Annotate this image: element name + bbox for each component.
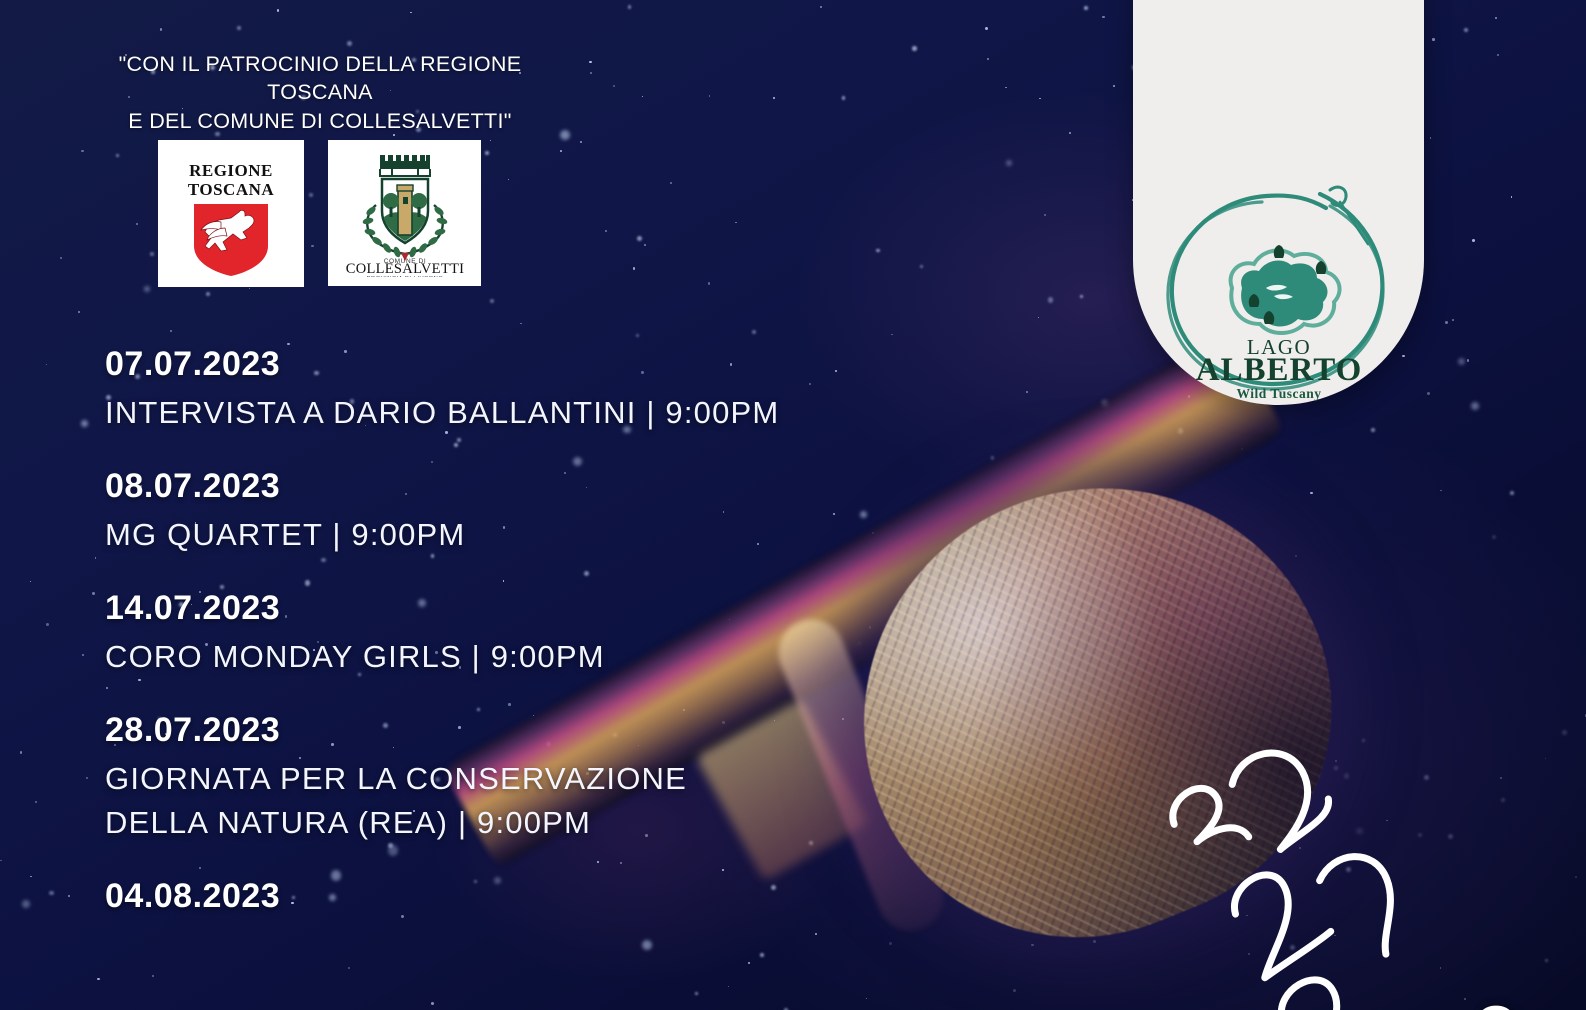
institutional-logos: REGIONE TOSCANA [158, 140, 481, 287]
event-poster: LAGO ALBERTO Wild Tuscany "CON IL PATROC… [0, 0, 1586, 1010]
brand-logo-panel: LAGO ALBERTO Wild Tuscany [1133, 0, 1424, 405]
tower [398, 189, 412, 235]
event-item: 28.07.2023 GIORNATA PER LA CONSERVAZIONE… [105, 711, 905, 845]
event-item: 04.08.2023 [105, 877, 905, 915]
toscana-line-2: TOSCANA [188, 180, 275, 199]
event-date: 08.07.2023 [105, 467, 905, 505]
event-item: 07.07.2023 INTERVISTA A DARIO BALLANTINI… [105, 345, 905, 435]
vertical-brand-text: LAGO ALBERTO [1467, 1000, 1528, 1010]
tree-right [411, 193, 427, 209]
tree-left [383, 193, 399, 209]
toscana-shield [194, 204, 268, 276]
event-description: GIORNATA PER LA CONSERVAZIONE DELLA NATU… [105, 757, 905, 845]
lago-alberto-logo: LAGO ALBERTO Wild Tuscany [1154, 172, 1404, 402]
patronage-line-2: E DEL COMUNE DI COLLESALVETTI" [80, 107, 560, 135]
toscana-line-1: REGIONE [189, 161, 273, 180]
regione-toscana-logo: REGIONE TOSCANA [158, 140, 304, 287]
patronage-heading: "CON IL PATROCINIO DELLA REGIONE TOSCANA… [80, 50, 560, 135]
event-description: CORO MONDAY GIRLS | 9:00PM [105, 635, 905, 679]
event-schedule: 07.07.2023 INTERVISTA A DARIO BALLANTINI… [105, 345, 905, 947]
comune-collesalvetti-logo: COMUNE DI COLLESALVETTI PROVINCIA DI LIV… [328, 140, 481, 286]
collesalvetti-line-2: COLLESALVETTI [345, 261, 464, 277]
mural-crown [380, 155, 430, 177]
logo-tagline: Wild Tuscany [1236, 386, 1321, 401]
event-item: 14.07.2023 CORO MONDAY GIRLS | 9:00PM [105, 589, 905, 679]
script-year-2023 [1148, 700, 1418, 1010]
event-date: 04.08.2023 [105, 877, 905, 915]
logo-name-large: ALBERTO [1195, 352, 1362, 388]
patronage-line-1: "CON IL PATROCINIO DELLA REGIONE TOSCANA [80, 50, 560, 107]
event-description: MG QUARTET | 9:00PM [105, 513, 905, 557]
event-item: 08.07.2023 MG QUARTET | 9:00PM [105, 467, 905, 557]
event-description: INTERVISTA A DARIO BALLANTINI | 9:00PM [105, 391, 905, 435]
event-date: 07.07.2023 [105, 345, 905, 383]
event-date: 28.07.2023 [105, 711, 905, 749]
event-date: 14.07.2023 [105, 589, 905, 627]
collesalvetti-line-3: PROVINCIA DI LIVORNO [366, 276, 443, 277]
